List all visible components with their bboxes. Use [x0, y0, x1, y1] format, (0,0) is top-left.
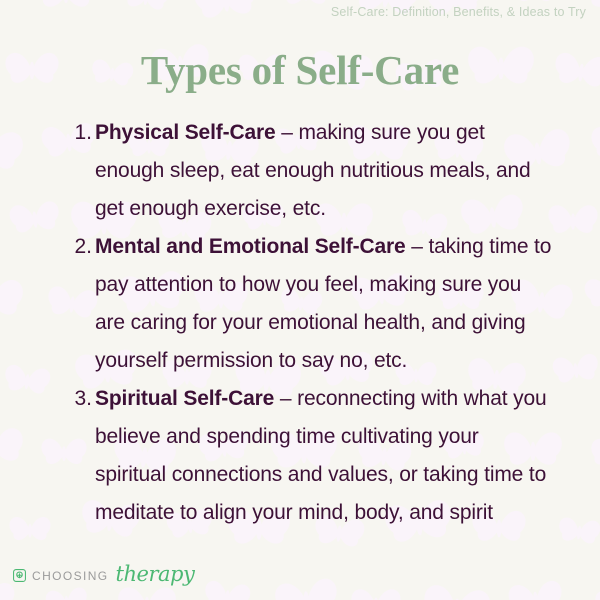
butterfly-decoration-icon: [6, 195, 64, 246]
header-bar: Self-Care: Definition, Benefits, & Ideas…: [0, 0, 586, 24]
butterfly-decoration-icon: [504, 573, 567, 600]
butterfly-decoration-icon: [555, 512, 600, 555]
page-title: Types of Self-Care: [0, 46, 600, 94]
list-item-body: Mental and Emotional Self-Care – taking …: [95, 228, 552, 380]
article-title-eyebrow: Self-Care: Definition, Benefits, & Ideas…: [331, 5, 586, 19]
page-title-text: Types of Self-Care: [141, 47, 459, 93]
butterfly-decoration-icon: [594, 586, 600, 600]
brand-name-primary: CHOOSING: [32, 569, 109, 583]
list-item-body: Physical Self-Care – making sure you get…: [95, 114, 552, 228]
butterfly-decoration-icon: [586, 433, 600, 480]
list-item-body: Spiritual Self-Care – reconnecting with …: [95, 380, 552, 532]
butterfly-decoration-icon: [349, 584, 402, 600]
butterfly-decoration-icon: [549, 348, 600, 395]
list-item-number: 2.: [62, 228, 95, 266]
brand-logo[interactable]: CHOOSING therapy: [12, 565, 194, 586]
poster-canvas: Self-Care: Definition, Benefits, & Ideas…: [0, 0, 600, 600]
butterfly-decoration-icon: [270, 570, 343, 600]
butterfly-decoration-icon: [0, 118, 28, 186]
butterfly-decoration-icon: [546, 200, 599, 245]
list-item-number: 3.: [62, 380, 95, 418]
list-item-number: 1.: [62, 114, 95, 152]
butterfly-decoration-icon: [0, 359, 54, 406]
self-care-types-list: 1.Physical Self-Care – making sure you g…: [62, 114, 552, 532]
butterfly-decoration-icon: [589, 121, 600, 169]
list-item-term: Physical Self-Care: [95, 121, 276, 144]
list-item-term: Spiritual Self-Care: [95, 387, 274, 410]
butterfly-decoration-icon: [8, 512, 53, 549]
butterfly-decoration-icon: [200, 575, 254, 600]
list-item-term: Mental and Emotional Self-Care: [95, 235, 406, 258]
list-item: 1.Physical Self-Care – making sure you g…: [62, 114, 552, 228]
lotus-logo-icon: [12, 568, 27, 583]
list-item: 2.Mental and Emotional Self-Care – takin…: [62, 228, 552, 380]
butterfly-decoration-icon: [0, 420, 29, 480]
butterfly-decoration-icon: [581, 269, 600, 320]
brand-name-script: therapy: [116, 564, 195, 585]
butterfly-decoration-icon: [0, 273, 25, 329]
list-item: 3.Spiritual Self-Care – reconnecting wit…: [62, 380, 552, 532]
butterfly-decoration-icon: [417, 576, 495, 600]
